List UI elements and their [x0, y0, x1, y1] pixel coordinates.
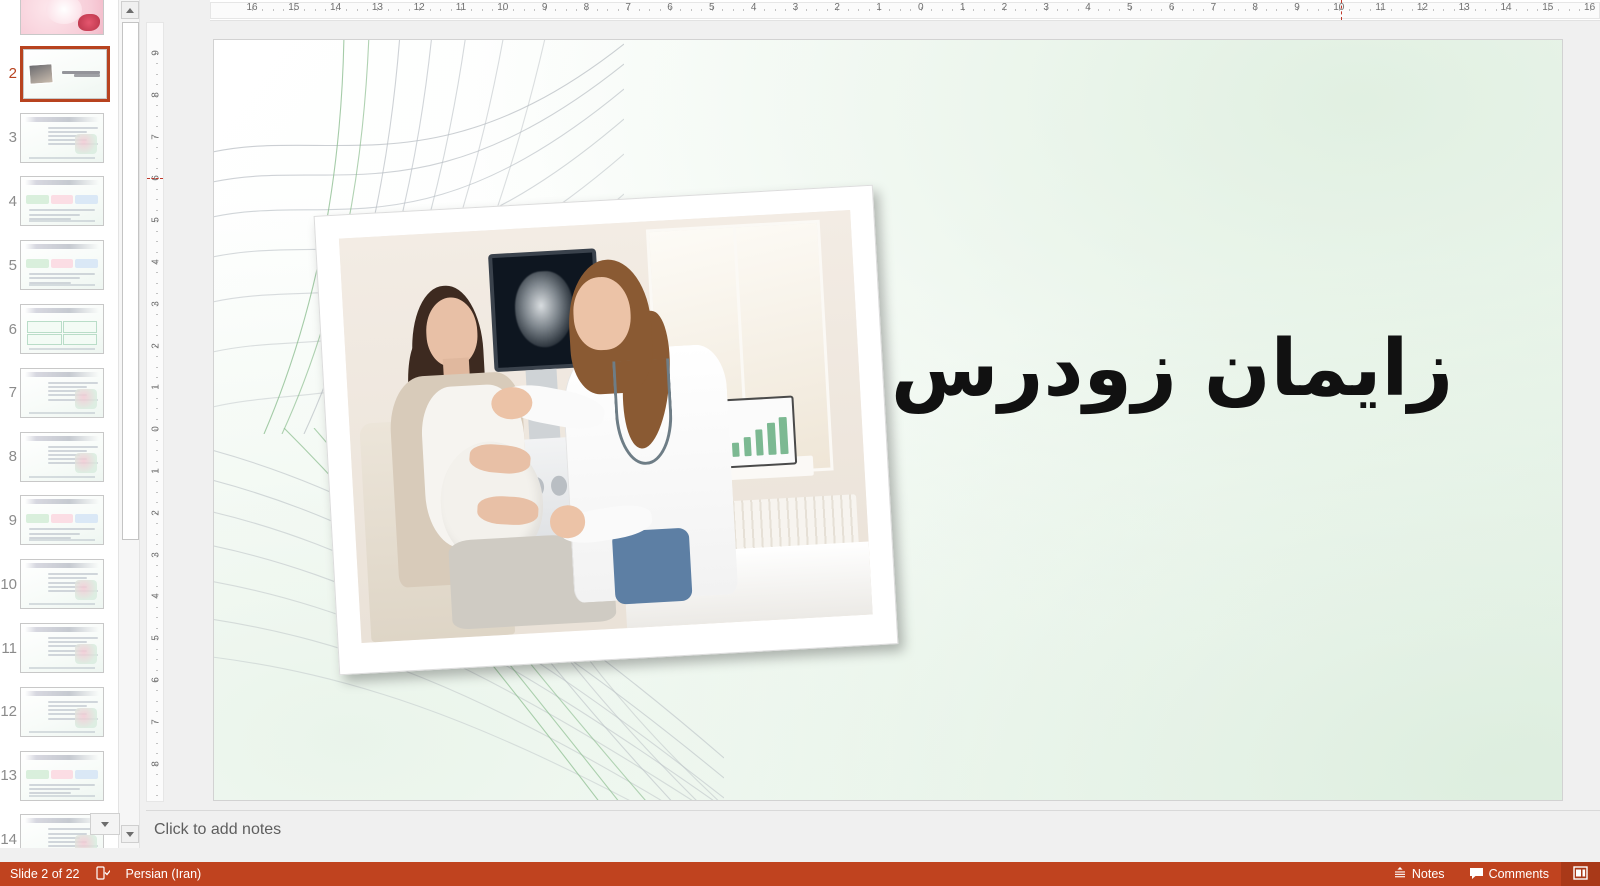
ruler-minor-tick: [1287, 9, 1288, 11]
ruler-minor-tick: [156, 711, 158, 712]
ruler-minor-tick: [1349, 9, 1350, 11]
comments-button[interactable]: Comments: [1457, 862, 1561, 886]
ruler-minor-tick: [156, 785, 158, 786]
slide-thumbnail-4[interactable]: 4: [0, 169, 118, 233]
ruler-minor-tick: [262, 9, 263, 11]
ruler-minor-tick: [931, 9, 932, 11]
ruler-label: 8: [1252, 2, 1258, 13]
ruler-minor-tick: [1360, 9, 1361, 11]
thumbnail-preview: [20, 368, 104, 418]
thumbnail-preview: [20, 0, 104, 35]
slide-thumbnail-2[interactable]: 2: [0, 42, 118, 106]
thumbnail-preview: [20, 176, 104, 226]
ruler-minor-tick: [357, 9, 358, 11]
ruler-minor-tick: [156, 492, 158, 493]
ruler-minor-tick: [156, 398, 158, 399]
ruler-minor-tick: [1328, 9, 1329, 11]
ruler-minor-tick: [156, 534, 158, 535]
ruler-minor-tick: [1318, 9, 1319, 11]
ruler-indent-marker: [1341, 0, 1342, 20]
powerpoint-window: 234567891011121314 161514131211109876543…: [0, 0, 1600, 886]
ruler-minor-tick: [660, 9, 661, 11]
thumbnail-scrollbar[interactable]: [118, 0, 140, 848]
ruler-minor-tick: [156, 63, 158, 64]
chevron-down-icon: [101, 822, 109, 827]
ruler-minor-tick: [848, 9, 849, 11]
ruler-minor-tick: [1067, 9, 1068, 11]
ruler-minor-tick: [680, 9, 681, 11]
ruler-minor-tick: [156, 544, 158, 545]
scroll-up-button[interactable]: [121, 1, 139, 19]
thumbnail-frame[interactable]: [20, 113, 104, 163]
thumbnail-frame[interactable]: [20, 623, 104, 673]
ruler-minor-tick: [388, 9, 389, 11]
ruler-minor-tick: [1579, 9, 1580, 11]
ruler-label: 11: [456, 2, 466, 13]
ruler-label: 9: [1294, 2, 1300, 13]
thumbnail-preview: [20, 495, 104, 545]
ruler-label: 10: [1333, 2, 1344, 13]
ruler-minor-tick: [156, 283, 158, 284]
ruler-minor-tick: [398, 9, 399, 11]
thumbnail-frame[interactable]: [20, 495, 104, 545]
ruler-minor-tick: [1402, 9, 1403, 11]
ruler-minor-tick: [566, 9, 567, 11]
slide-thumbnail-9[interactable]: 9: [0, 488, 118, 552]
notes-pane-toggle[interactable]: [90, 813, 120, 835]
accessibility-check-icon[interactable]: [96, 866, 110, 883]
ruler-minor-tick: [156, 105, 158, 106]
ruler-minor-tick: [1025, 9, 1026, 11]
ruler-minor-tick: [743, 9, 744, 11]
ruler-minor-tick: [156, 565, 158, 566]
ruler-minor-tick: [1140, 9, 1141, 11]
ruler-minor-tick: [156, 670, 158, 671]
current-slide[interactable]: زایمان زودرس: [214, 40, 1562, 800]
ruler-label: 14: [330, 2, 341, 13]
ruler-minor-tick: [156, 586, 158, 587]
ruler-minor-tick: [1516, 9, 1517, 11]
ruler-minor-tick: [1558, 9, 1559, 11]
slide-thumbnail-10[interactable]: 10: [0, 552, 118, 616]
ruler-minor-tick: [156, 461, 158, 462]
ruler-minor-tick: [1151, 9, 1152, 11]
ruler-label: 11: [1375, 2, 1385, 13]
ruler-minor-tick: [1485, 9, 1486, 11]
slide-thumbnail-8[interactable]: 8: [0, 425, 118, 489]
ruler-minor-tick: [1475, 9, 1476, 11]
ruler-minor-tick: [994, 9, 995, 11]
ruler-minor-tick: [1276, 9, 1277, 11]
ruler-minor-tick: [156, 743, 158, 744]
ruler-label: 4: [751, 2, 757, 13]
ruler-label: 14: [1500, 2, 1511, 13]
thumbnail-preview: [20, 304, 104, 354]
thumbnail-preview: [20, 623, 104, 673]
thumbnail-number: 14: [0, 832, 20, 847]
ruler-minor-tick: [156, 617, 158, 618]
slide-thumbnail-3[interactable]: 3: [0, 106, 118, 170]
ruler-minor-tick: [1454, 9, 1455, 11]
slide-thumbnail-12[interactable]: 12: [0, 680, 118, 744]
ruler-label: 2: [1002, 2, 1008, 13]
ruler-minor-tick: [156, 147, 158, 148]
ruler-label: 1: [960, 2, 966, 13]
triangle-up-icon: [126, 8, 134, 13]
thumbnail-number: 4: [0, 194, 20, 209]
ruler-minor-tick: [1193, 9, 1194, 11]
ruler-minor-tick: [156, 440, 158, 441]
comment-bubble-icon: [1469, 866, 1484, 883]
thumbnail-preview: [20, 432, 104, 482]
ruler-minor-tick: [869, 9, 870, 11]
ruler-minor-tick: [942, 9, 943, 11]
ruler-minor-tick: [451, 9, 452, 11]
thumbnail-number: 10: [0, 577, 20, 592]
ruler-label: 13: [1459, 2, 1470, 13]
ruler-minor-tick: [156, 241, 158, 242]
comments-button-label: Comments: [1489, 867, 1549, 881]
ruler-minor-tick: [827, 9, 828, 11]
ruler-minor-tick: [492, 9, 493, 11]
ruler-minor-tick: [1412, 9, 1413, 11]
notes-button-label: Notes: [1412, 867, 1445, 881]
ruler-minor-tick: [618, 9, 619, 11]
ruler-minor-tick: [156, 252, 158, 253]
ruler-minor-tick: [1119, 9, 1120, 11]
ruler-label: 7: [1211, 2, 1217, 13]
ruler-minor-tick: [156, 126, 158, 127]
ruler-minor-tick: [367, 9, 368, 11]
ruler-minor-tick: [156, 377, 158, 378]
ruler-minor-tick: [156, 628, 158, 629]
ruler-minor-tick: [156, 649, 158, 650]
ruler-minor-tick: [1098, 9, 1099, 11]
ruler-label: 2: [834, 2, 840, 13]
doctor-jeans: [612, 527, 693, 604]
ruler-minor-tick: [409, 9, 410, 11]
ruler-minor-tick: [440, 9, 441, 11]
ruler-minor-tick: [764, 9, 765, 11]
ruler-minor-tick: [1161, 9, 1162, 11]
ruler-label: 1: [151, 381, 162, 393]
ruler-minor-tick: [900, 9, 901, 11]
thumbnail-preview: [20, 240, 104, 290]
ruler-minor-tick: [1569, 9, 1570, 11]
ruler-minor-tick: [597, 9, 598, 11]
ruler-label: 7: [625, 2, 631, 13]
ruler-minor-tick: [733, 9, 734, 11]
ruler-minor-tick: [1266, 9, 1267, 11]
ruler-minor-tick: [973, 9, 974, 11]
ruler-minor-tick: [1057, 9, 1058, 11]
thumbnail-number: 5: [0, 258, 20, 273]
ruler-minor-tick: [156, 753, 158, 754]
ruler-label: 7: [151, 716, 162, 728]
ruler-minor-tick: [156, 158, 158, 159]
slide-thumbnail-cover[interactable]: [0, 0, 118, 42]
ruler-minor-tick: [1370, 9, 1371, 11]
ruler-minor-tick: [471, 9, 472, 11]
ruler-minor-tick: [482, 9, 483, 11]
ruler-minor-tick: [346, 9, 347, 11]
thumbnail-number: 12: [0, 704, 20, 719]
ruler-minor-tick: [1182, 9, 1183, 11]
ruler-label: 15: [288, 2, 299, 13]
horizontal-ruler: 1615141312111098765432101234567891011121…: [210, 0, 1600, 21]
ruler-label: 12: [1417, 2, 1428, 13]
ruler-label: 5: [151, 214, 162, 226]
ruler-label: 0: [151, 423, 162, 435]
ruler-minor-tick: [701, 9, 702, 11]
ruler-minor-tick: [156, 659, 158, 660]
ruler-minor-tick: [984, 9, 985, 11]
ruler-label: 3: [151, 298, 162, 310]
ruler-minor-tick: [1109, 9, 1110, 11]
ruler-minor-tick: [513, 9, 514, 11]
ruler-minor-tick: [691, 9, 692, 11]
ruler-label: 7: [151, 131, 162, 143]
ruler-minor-tick: [785, 9, 786, 11]
ruler-label: 8: [584, 2, 590, 13]
ruler-label: 4: [151, 590, 162, 602]
ruler-minor-tick: [156, 325, 158, 326]
ruler-label: 1: [876, 2, 882, 13]
ruler-minor-tick: [156, 774, 158, 775]
ruler-label: 6: [151, 674, 162, 686]
ruler-minor-tick: [524, 9, 525, 11]
thumbnail-frame[interactable]: [20, 559, 104, 609]
ruler-label: 12: [414, 2, 425, 13]
ruler-minor-tick: [156, 795, 158, 796]
ruler-minor-tick: [430, 9, 431, 11]
slide-counter[interactable]: Slide 2 of 22: [10, 867, 80, 881]
ultrasound-scan-image: [513, 269, 575, 349]
notes-icon: [1393, 866, 1407, 883]
thumbnail-frame[interactable]: [20, 0, 104, 35]
ruler-minor-tick: [607, 9, 608, 11]
thumbnail-frame[interactable]: [20, 751, 104, 801]
ruler-minor-tick: [1496, 9, 1497, 11]
ruler-label: 13: [372, 2, 383, 13]
thumbnail-number: 7: [0, 385, 20, 400]
ruler-minor-tick: [156, 116, 158, 117]
ruler-minor-tick: [156, 293, 158, 294]
ruler-minor-tick: [1015, 9, 1016, 11]
ruler-minor-tick: [156, 450, 158, 451]
ruler-label: 2: [151, 340, 162, 352]
ruler-minor-tick: [555, 9, 556, 11]
ruler-minor-tick: [1391, 9, 1392, 11]
ruler-minor-tick: [304, 9, 305, 11]
thumbnail-number: 8: [0, 449, 20, 464]
ruler-minor-tick: [1203, 9, 1204, 11]
notes-pane[interactable]: Click to add notes: [146, 810, 1600, 848]
ruler-minor-tick: [156, 314, 158, 315]
slide-thumbnail-pane[interactable]: 234567891011121314: [0, 0, 118, 848]
ruler-label: 3: [1043, 2, 1049, 13]
slide-thumbnail-11[interactable]: 11: [0, 616, 118, 680]
ruler-label: 15: [1542, 2, 1553, 13]
scroll-down-button[interactable]: [121, 825, 139, 843]
notes-button[interactable]: Notes: [1381, 862, 1457, 886]
thumbnail-preview: [23, 49, 107, 99]
ruler-minor-tick: [952, 9, 953, 11]
ruler-label: 16: [1584, 2, 1595, 13]
ruler-minor-tick: [156, 481, 158, 482]
ruler-minor-tick: [806, 9, 807, 11]
thumbnail-frame[interactable]: [20, 46, 110, 102]
ruler-minor-tick: [156, 732, 158, 733]
ruler-label: 9: [542, 2, 548, 13]
ruler-label: 0: [918, 2, 924, 13]
thumbnail-frame[interactable]: [20, 368, 104, 418]
ruler-minor-tick: [1036, 9, 1037, 11]
ruler-minor-tick: [816, 9, 817, 11]
ruler-minor-tick: [1433, 9, 1434, 11]
ruler-minor-tick: [283, 9, 284, 11]
ruler-label: 16: [246, 2, 257, 13]
ruler-label: 5: [1127, 2, 1133, 13]
thumbnail-number: 11: [0, 641, 20, 656]
thumbnail-number: 3: [0, 130, 20, 145]
slide-thumbnail-5[interactable]: 5: [0, 233, 118, 297]
ruler-minor-tick: [534, 9, 535, 11]
ruler-minor-tick: [889, 9, 890, 11]
slide-thumbnail-7[interactable]: 7: [0, 361, 118, 425]
normal-view-icon: [1573, 866, 1588, 883]
ruler-label: 3: [151, 549, 162, 561]
ruler-minor-tick: [576, 9, 577, 11]
ruler-minor-tick: [156, 523, 158, 524]
ruler-minor-tick: [910, 9, 911, 11]
thumbnail-number: 2: [0, 66, 20, 81]
ruler-minor-tick: [1443, 9, 1444, 11]
thumbnail-preview: [20, 751, 104, 801]
ruler-minor-tick: [156, 408, 158, 409]
ruler-minor-tick: [156, 168, 158, 169]
ruler-minor-tick: [156, 335, 158, 336]
ruler-minor-tick: [156, 502, 158, 503]
ruler-label: 4: [1085, 2, 1091, 13]
thumbnail-preview: [20, 687, 104, 737]
triangle-down-icon: [126, 832, 134, 837]
thumbnail-frame[interactable]: [20, 176, 104, 226]
ruler-minor-tick: [156, 607, 158, 608]
ruler-minor-tick: [1078, 9, 1079, 11]
ruler-minor-tick: [156, 367, 158, 368]
ruler-minor-tick: [315, 9, 316, 11]
ruler-label: 10: [497, 2, 508, 13]
ruler-minor-tick: [1307, 9, 1308, 11]
ruler-label: 3: [793, 2, 799, 13]
slide-thumbnail-13[interactable]: 13: [0, 744, 118, 808]
status-bar: Slide 2 of 22 Persian (Iran) Notes Comme…: [0, 862, 1600, 886]
ruler-minor-tick: [156, 356, 158, 357]
ruler-minor-tick: [1527, 9, 1528, 11]
ruler-minor-tick: [649, 9, 650, 11]
ruler-minor-tick: [639, 9, 640, 11]
ruler-label: 5: [151, 632, 162, 644]
slide-title-text[interactable]: زایمان زودرس: [852, 325, 1492, 415]
thumbnail-frame[interactable]: [20, 432, 104, 482]
exam-room-photo: [339, 210, 873, 643]
slide-canvas-area[interactable]: زایمان زودرس: [164, 22, 1600, 808]
ruler-margin-marker: [147, 178, 163, 179]
thumbnail-frame[interactable]: [20, 240, 104, 290]
slide-thumbnail-6[interactable]: 6: [0, 297, 118, 361]
ruler-label: 2: [151, 507, 162, 519]
thumbnail-preview: [20, 559, 104, 609]
ruler-label: 8: [151, 758, 162, 770]
ruler-label: 6: [1169, 2, 1175, 13]
ruler-minor-tick: [156, 84, 158, 85]
ruler-label: 4: [151, 256, 162, 268]
scrollbar-thumb[interactable]: [122, 22, 139, 540]
ruler-minor-tick: [156, 210, 158, 211]
ruler-minor-tick: [775, 9, 776, 11]
language-indicator[interactable]: Persian (Iran): [126, 867, 202, 881]
thumbnail-preview: [20, 113, 104, 163]
ruler-minor-tick: [156, 231, 158, 232]
ruler-label: 5: [709, 2, 715, 13]
ruler-minor-tick: [156, 74, 158, 75]
ruler-minor-tick: [1245, 9, 1246, 11]
thumbnail-frame[interactable]: [20, 304, 104, 354]
vertical-ruler: 987654321012345678: [146, 22, 164, 802]
ruler-minor-tick: [156, 199, 158, 200]
ruler-minor-tick: [858, 9, 859, 11]
ruler-label: 1: [151, 465, 162, 477]
ruler-minor-tick: [156, 189, 158, 190]
thumbnail-number: 13: [0, 768, 20, 783]
normal-view-button[interactable]: [1561, 862, 1600, 886]
slide-photo-frame[interactable]: [314, 185, 899, 676]
notes-placeholder: Click to add notes: [154, 821, 281, 839]
ruler-minor-tick: [156, 690, 158, 691]
ruler-minor-tick: [156, 272, 158, 273]
ruler-minor-tick: [1224, 9, 1225, 11]
ruler-label: 8: [151, 89, 162, 101]
ruler-minor-tick: [1234, 9, 1235, 11]
ruler-minor-tick: [1537, 9, 1538, 11]
thumbnail-number: 6: [0, 322, 20, 337]
ruler-minor-tick: [325, 9, 326, 11]
ruler-minor-tick: [156, 701, 158, 702]
ruler-minor-tick: [273, 9, 274, 11]
ruler-minor-tick: [722, 9, 723, 11]
ruler-label: 9: [151, 47, 162, 59]
ruler-minor-tick: [156, 576, 158, 577]
thumbnail-frame[interactable]: [20, 687, 104, 737]
ruler-minor-tick: [156, 419, 158, 420]
ruler-label: 6: [667, 2, 673, 13]
thumbnail-number: 9: [0, 513, 20, 528]
